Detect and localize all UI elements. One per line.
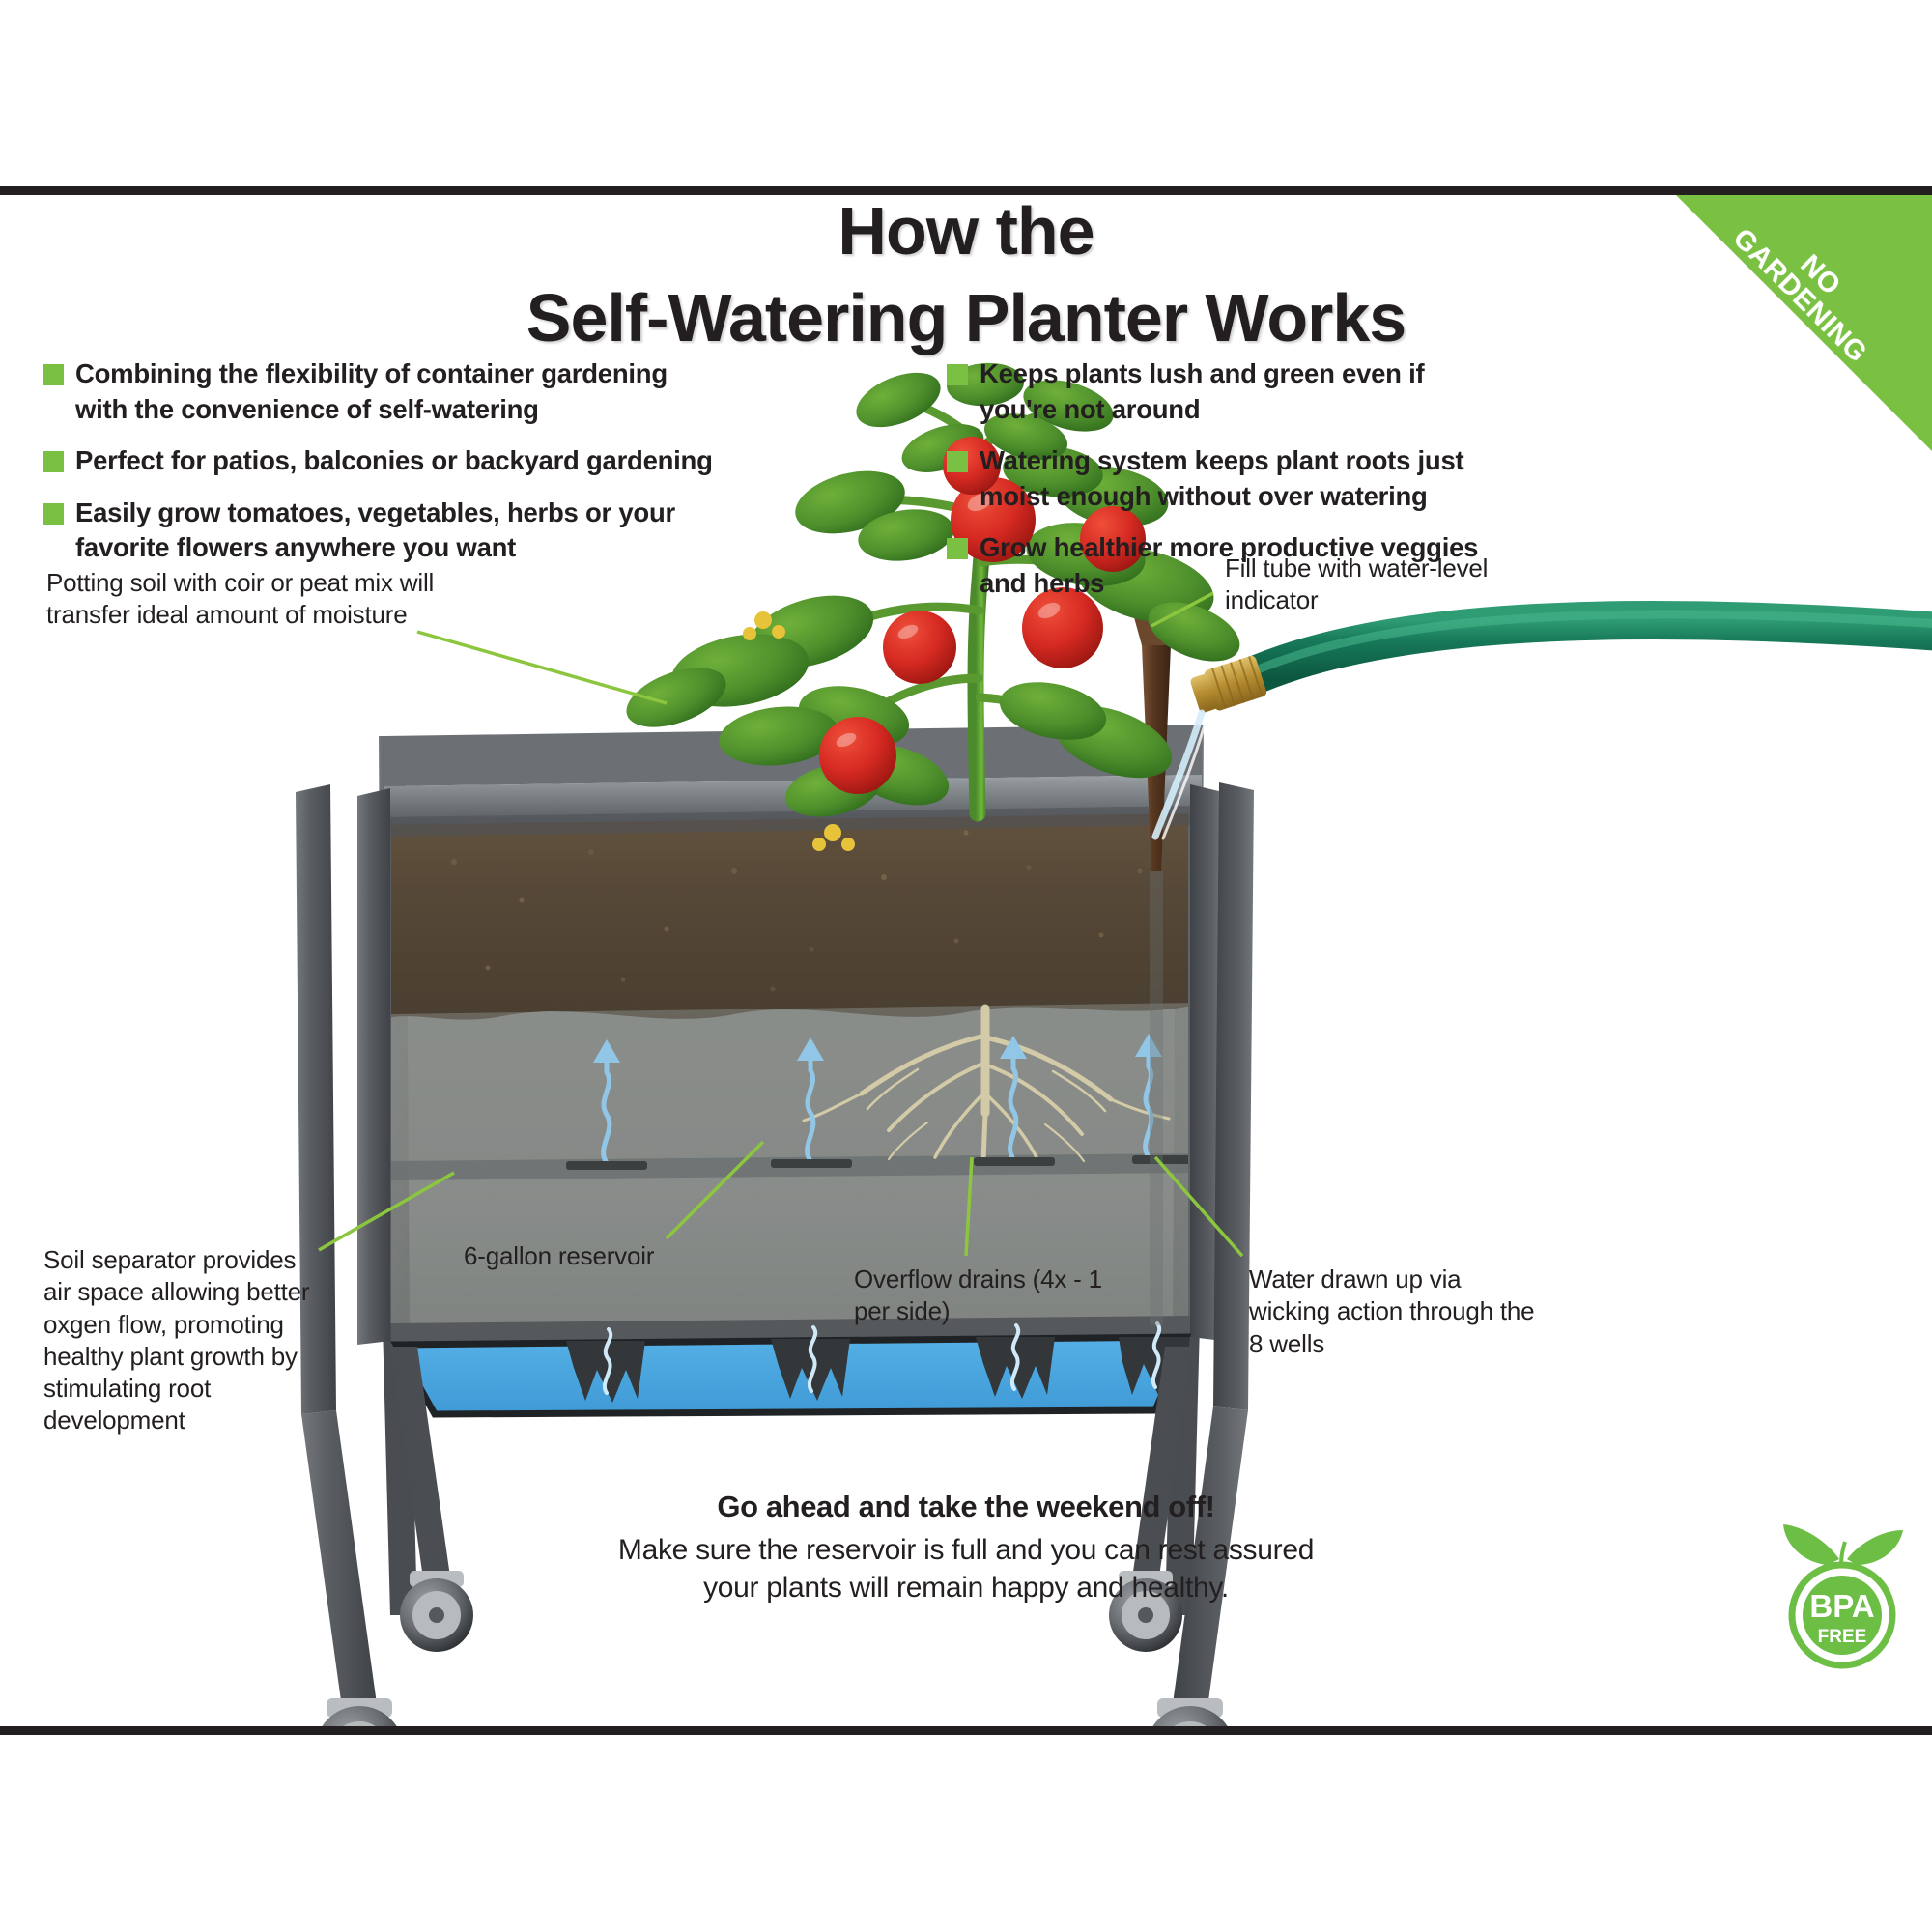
- caption-body-line-2: your plants will remain happy and health…: [0, 1569, 1932, 1606]
- bpa-free-badge: BPA FREE: [1770, 1517, 1915, 1671]
- bullet-label: Easily grow tomatoes, vegetables, herbs …: [75, 496, 719, 566]
- bullet-square-icon: [947, 538, 968, 559]
- garden-hose: [1155, 614, 1932, 838]
- bullet-square-icon: [43, 451, 64, 472]
- caption-body-line-1: Make sure the reservoir is full and you …: [0, 1531, 1932, 1569]
- free-label: FREE: [1818, 1627, 1867, 1647]
- callout-soil-separator: Soil separator provides air space allowi…: [43, 1244, 324, 1437]
- bullet-item: Keeps plants lush and green even if you'…: [947, 356, 1488, 427]
- bullet-square-icon: [43, 503, 64, 525]
- callout-wicking-action: Water drawn up via wicking action throug…: [1249, 1264, 1539, 1360]
- top-divider-rule: [0, 186, 1932, 195]
- benefits-list-left: Combining the flexibility of container g…: [43, 356, 719, 582]
- leaf-right-icon: [1847, 1530, 1903, 1565]
- leaf-left-icon: [1783, 1524, 1839, 1565]
- leader-potting-soil: [417, 632, 667, 703]
- caption-headline: Go ahead and take the weekend off!: [0, 1490, 1932, 1524]
- bullet-label: Watering system keeps plant roots just m…: [980, 443, 1488, 514]
- callout-overflow-drains: Overflow drains (4x - 1 per side): [854, 1264, 1124, 1328]
- bullet-label: Combining the flexibility of container g…: [75, 356, 719, 427]
- bottom-divider-rule: [0, 1726, 1932, 1735]
- callout-fill-tube: Fill tube with water-level indicator: [1225, 553, 1544, 617]
- bullet-item: Watering system keeps plant roots just m…: [947, 443, 1488, 514]
- bullet-item: Perfect for patios, balconies or backyar…: [43, 443, 719, 479]
- bullet-label: Keeps plants lush and green even if you'…: [980, 356, 1488, 427]
- infographic-canvas: How the Self-Watering Planter Works NO G…: [0, 195, 1932, 1726]
- bullet-label: Perfect for patios, balconies or backyar…: [75, 443, 713, 479]
- callout-potting-soil: Potting soil with coir or peat mix will …: [46, 567, 452, 632]
- bullet-item: Easily grow tomatoes, vegetables, herbs …: [43, 496, 719, 566]
- infographic-page: How the Self-Watering Planter Works NO G…: [0, 0, 1932, 1932]
- bullet-item: Combining the flexibility of container g…: [43, 356, 719, 427]
- closing-caption: Go ahead and take the weekend off! Make …: [0, 1490, 1932, 1606]
- callout-reservoir: 6-gallon reservoir: [464, 1240, 676, 1272]
- bullet-square-icon: [947, 451, 968, 472]
- bullet-square-icon: [43, 364, 64, 385]
- bpa-label: BPA: [1809, 1588, 1874, 1624]
- bullet-square-icon: [947, 364, 968, 385]
